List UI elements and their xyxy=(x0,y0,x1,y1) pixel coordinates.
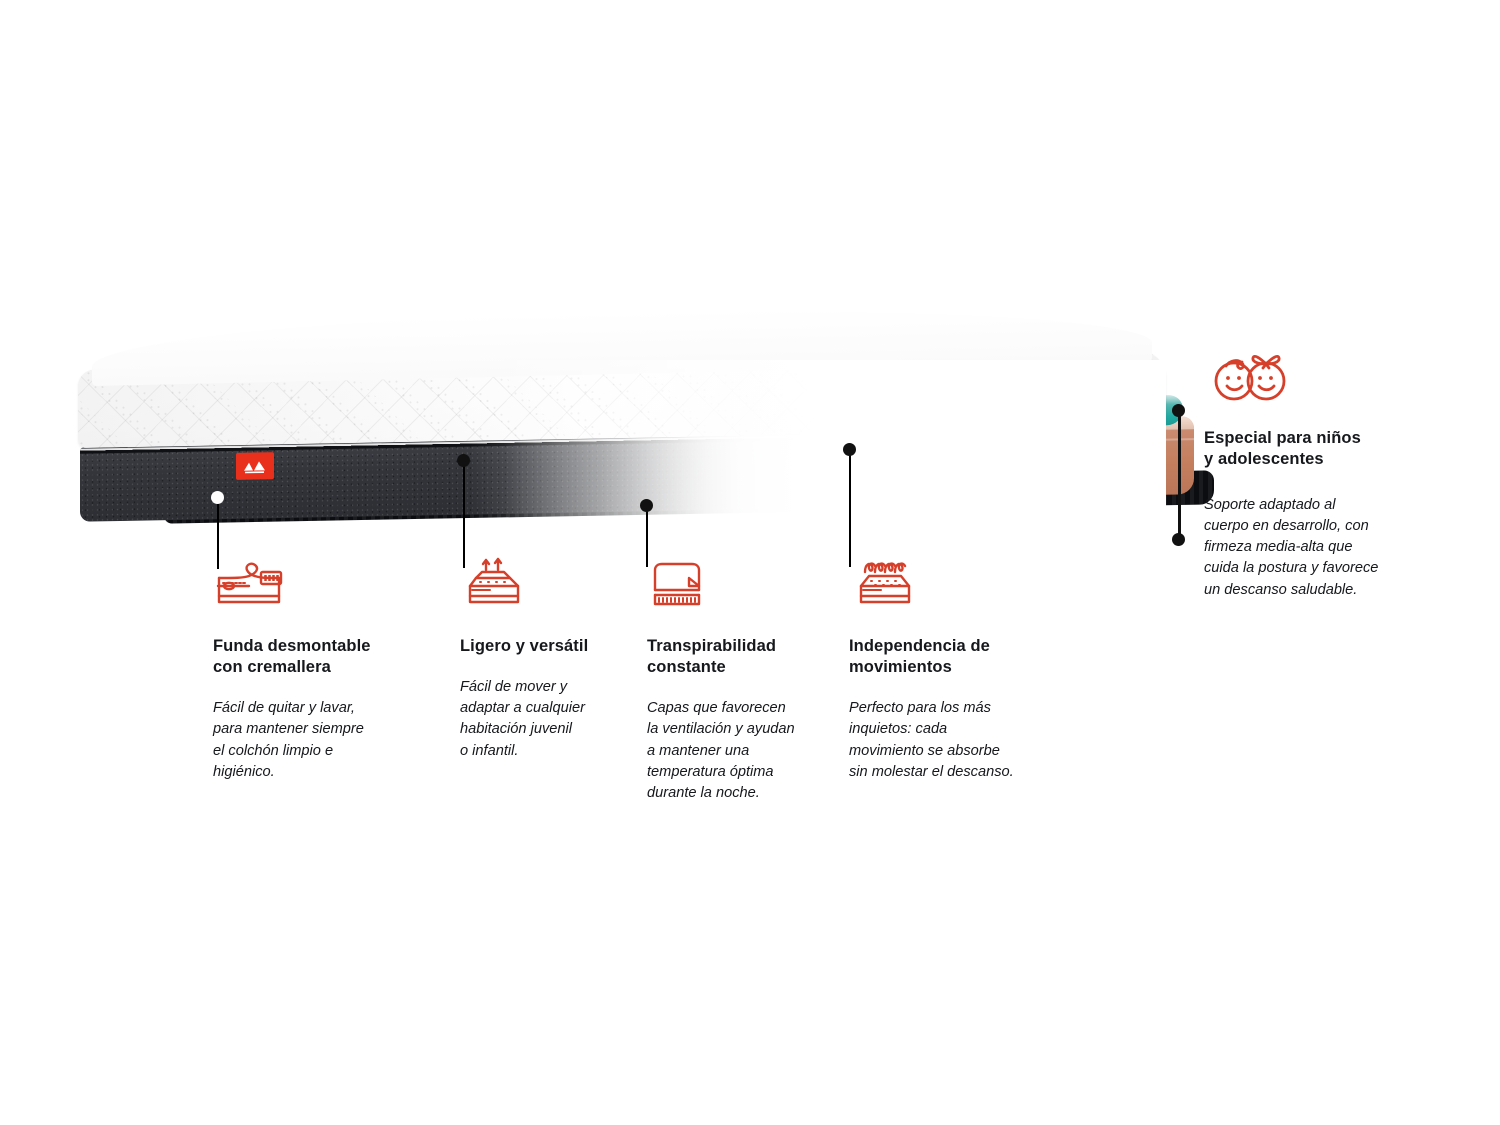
feature-column-4: Independencia de movimientos Perfecto pa… xyxy=(849,556,1049,783)
feature-body: Perfecto para los más inquietos: cada mo… xyxy=(849,698,1049,783)
mattress-cutaway-illustration xyxy=(78,360,1168,550)
two-kids-faces-icon xyxy=(1204,348,1434,404)
bracket-bar xyxy=(1178,410,1181,540)
feature-column-1: Funda desmontable con cremallera Fácil d… xyxy=(213,556,413,783)
infographic-canvas: Funda desmontable con cremallera Fácil d… xyxy=(0,0,1500,1125)
feature-title: Funda desmontable con cremallera xyxy=(213,636,413,678)
springs-mattress-icon xyxy=(849,556,1049,614)
right-info-panel: Especial para niños y adolescentes Sopor… xyxy=(1204,348,1434,601)
feature-column-2: Ligero y versátil Fácil de mover y adapt… xyxy=(460,556,635,762)
right-panel-title: Especial para niños y adolescentes xyxy=(1204,428,1434,471)
zipper-cover-icon xyxy=(213,556,413,614)
band-handle-stitching xyxy=(775,440,840,503)
feature-title: Independencia de movimientos xyxy=(849,636,1049,678)
lightweight-mattress-icon xyxy=(460,556,635,614)
leader-dot-2 xyxy=(457,454,470,467)
right-panel-bracket xyxy=(1172,404,1186,546)
right-panel-body: Soporte adaptado al cuerpo en desarrollo… xyxy=(1204,495,1434,601)
bracket-cap-bottom xyxy=(1172,533,1185,546)
brand-logo-tag xyxy=(236,452,274,480)
leader-dot-3 xyxy=(640,499,653,512)
bracket-cap-top xyxy=(1172,404,1185,417)
breathability-mattress-icon xyxy=(647,556,827,614)
feature-column-3: Transpirabilidad constante Capas que fav… xyxy=(647,556,827,804)
feature-body: Fácil de mover y adaptar a cualquier hab… xyxy=(460,677,635,762)
leader-line-4 xyxy=(849,449,851,567)
leader-line-2 xyxy=(463,460,465,568)
leader-dot-1 xyxy=(211,491,224,504)
leader-dot-4 xyxy=(843,443,856,456)
feature-body: Fácil de quitar y lavar, para mantener s… xyxy=(213,698,413,783)
feature-title: Transpirabilidad constante xyxy=(647,636,827,678)
feature-title: Ligero y versátil xyxy=(460,636,635,657)
feature-body: Capas que favorecen la ventilación y ayu… xyxy=(647,698,827,804)
